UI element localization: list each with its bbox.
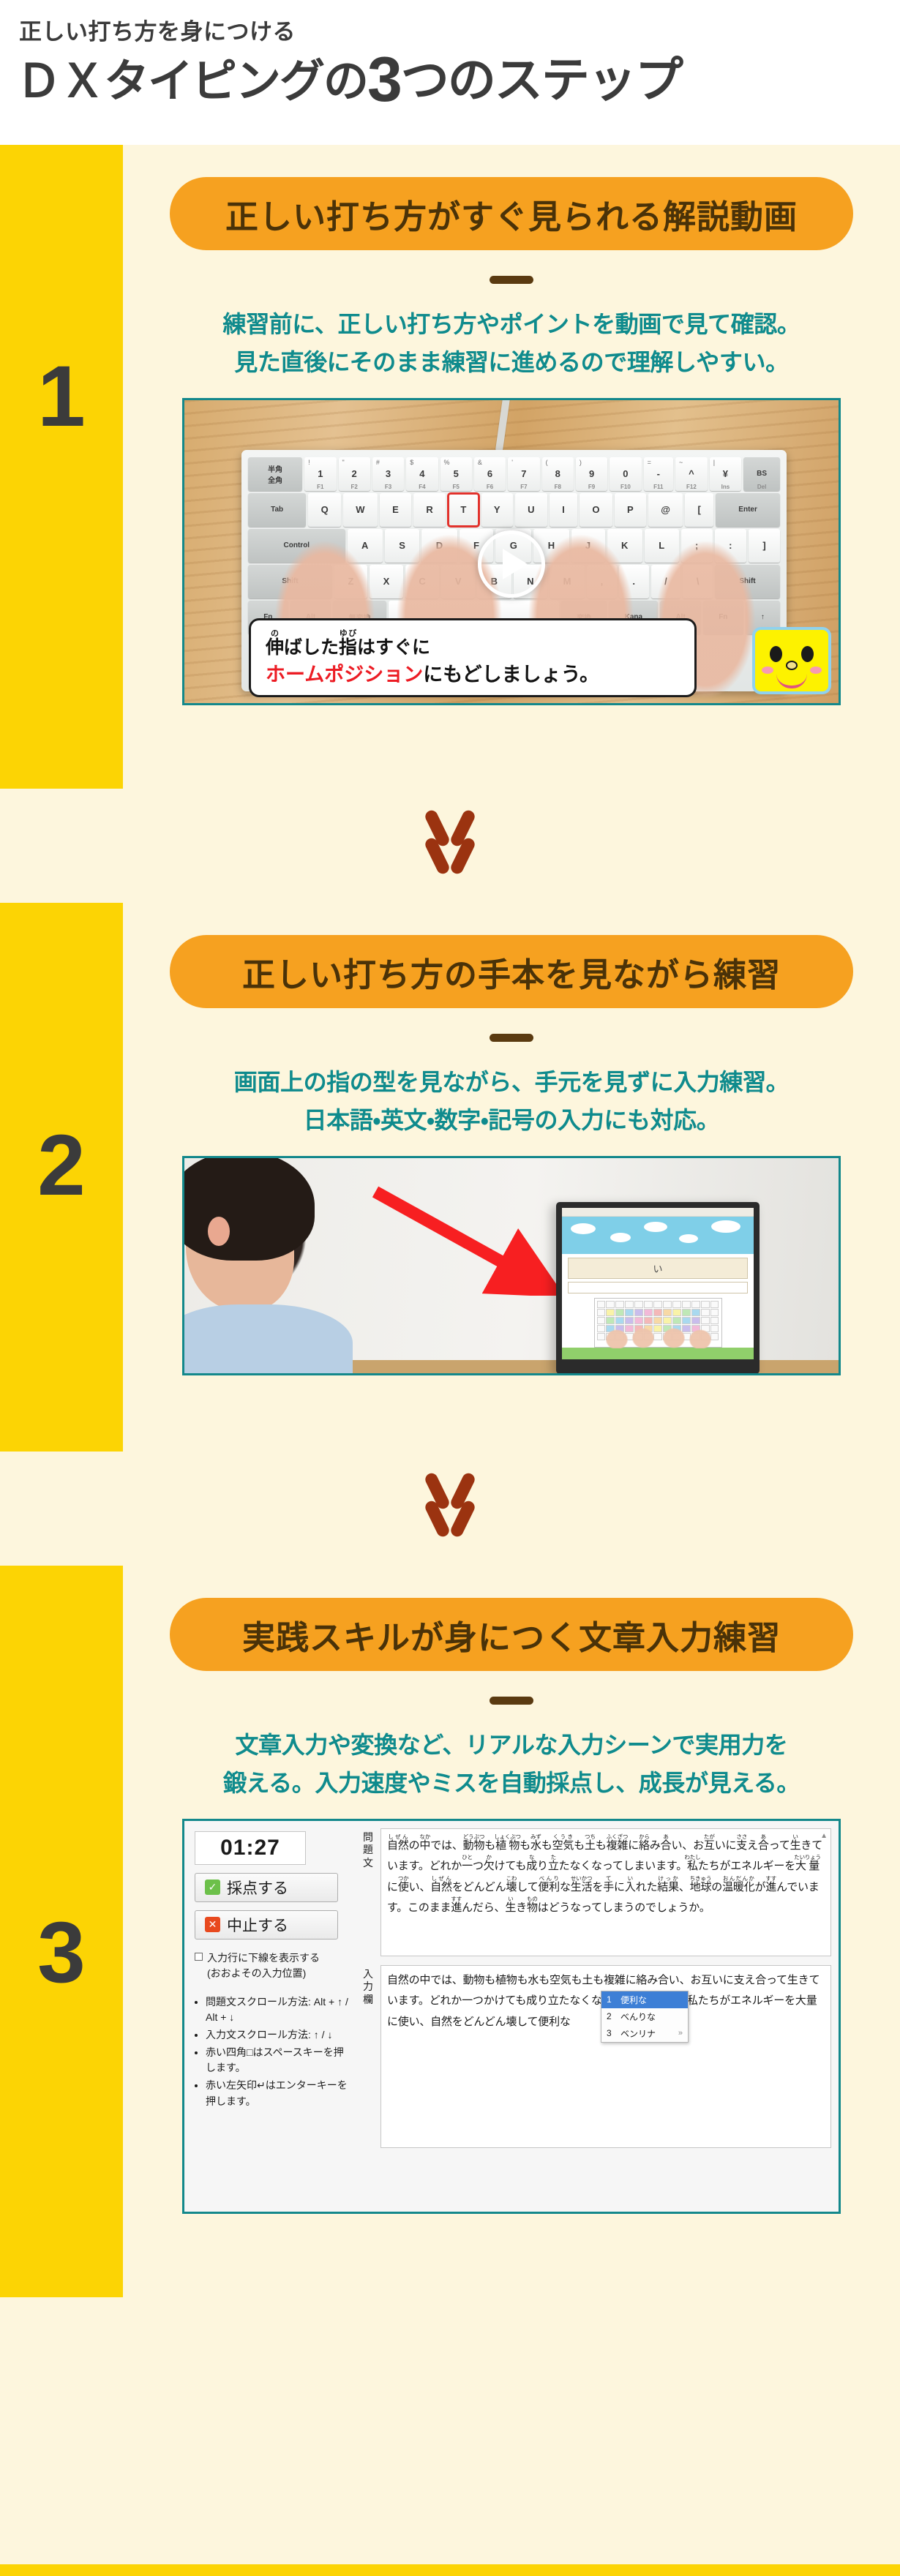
app-left-panel: 01:27 ✓ 採点する ✕ 中止する 入力行に下線を表示する (おおよその入力… — [184, 1821, 357, 2212]
checkbox-box-icon — [195, 1953, 203, 1961]
guide-key — [682, 1301, 691, 1308]
step-1-body: 正しい打ち方がすぐ見られる解説動画 練習前に、正しい打ち方やポイントを動画で見て… — [123, 145, 900, 705]
mascot-character-icon — [752, 627, 831, 694]
score-button[interactable]: ✓ 採点する — [195, 1873, 338, 1902]
key-label: . — [632, 576, 635, 587]
key-fn-label: F11 — [653, 484, 663, 490]
key-fn-label: F3 — [385, 484, 391, 490]
ime-candidate-1-num: 1 — [607, 1994, 614, 2005]
key-label: 5 — [454, 468, 459, 479]
key-W: W — [343, 493, 378, 527]
key-fn-label: Ins — [721, 484, 730, 490]
key-\: \ — [683, 565, 713, 598]
key-fn-label: F12 — [686, 484, 697, 490]
key--: =-F11 — [644, 457, 673, 491]
close-icon: ✕ — [205, 1917, 220, 1932]
key-label: 7 — [521, 468, 526, 479]
guide-key — [615, 1309, 624, 1316]
key-BS: BSDel — [743, 457, 780, 491]
ime-candidate-3-text: ベンリナ — [620, 2027, 656, 2040]
title-number: 3 — [367, 45, 401, 115]
key-E: E — [380, 493, 411, 527]
key-fn-label: Del — [757, 484, 766, 490]
key-label: F — [473, 540, 479, 551]
key-sublabel: = — [648, 459, 651, 466]
key-I: I — [550, 493, 577, 527]
guide-key — [701, 1309, 710, 1316]
key-label: @ — [661, 504, 670, 515]
scroll-up-icon[interactable]: ▲ — [820, 1832, 828, 1840]
key-label: , — [601, 576, 604, 587]
key-label: D — [436, 540, 443, 551]
play-icon[interactable] — [478, 530, 545, 598]
step-1-description: 練習前に、正しい打ち方やポイントを動画で見て確認。 見た直後にそのまま練習に進め… — [163, 306, 860, 382]
cloud-icon-5 — [711, 1220, 740, 1233]
chevron-down-icon-1b — [415, 837, 485, 866]
guide-key — [625, 1301, 634, 1308]
key-8: (8F8 — [542, 457, 574, 491]
checkbox-label-line-1: 入力行に下線を表示する — [207, 1952, 320, 1964]
guide-key — [597, 1301, 606, 1308]
keyboard-row-2: TabQWERTYUIOP@[Enter — [248, 493, 780, 527]
key-sublabel: " — [342, 459, 345, 466]
key-sublabel: # — [376, 459, 380, 466]
key-label: Y — [494, 504, 500, 515]
key-label: X — [383, 576, 390, 587]
key-label: Tab — [271, 506, 283, 514]
key-fn-label: F5 — [453, 484, 460, 490]
key-label: BS — [757, 470, 767, 478]
key-fn-label: F6 — [487, 484, 493, 490]
key-fn-label: F1 — [317, 484, 323, 490]
key-label: I — [562, 504, 565, 515]
app-prompt-text: い — [568, 1258, 748, 1279]
chevron-down-icon-1a — [415, 809, 485, 838]
key-sublabel: % — [444, 459, 450, 466]
step-3-divider — [490, 1697, 533, 1705]
monitor-stand — [619, 1373, 700, 1375]
list-item: 問題文スクロール方法: Alt + ↑ / Alt + ↓ — [206, 1994, 348, 2026]
keyboard-row-1: 半角 全角!1F1"2F2#3F3$4F4%5F5&6F6'7F7(8F8)9F… — [248, 457, 780, 491]
key-label: 半角 全角 — [268, 463, 282, 485]
red-arrow-icon — [371, 1186, 561, 1296]
key-S: S — [385, 529, 420, 563]
key-label: 4 — [419, 468, 424, 479]
key-sublabel: ~ — [679, 459, 683, 466]
ime-candidate-2-num: 2 — [607, 2011, 614, 2021]
input-panel-row: 入力欄 自然の中では、動物も植物も水も空気も土も複雑に絡み合い、お互いに支え合っ… — [360, 1965, 831, 2148]
ime-candidate-list[interactable]: 1 便利な 2 べんりな 3 ベンリナ » — [601, 1991, 689, 2043]
guide-key — [691, 1301, 700, 1308]
page-header: 正しい打ち方を身につける ＤＸタイピングの3つのステップ — [0, 0, 900, 145]
key-U: U — [515, 493, 547, 527]
step-1-divider — [490, 276, 533, 284]
step-2-description: 画面上の指の型を見ながら、手元を見ずに入力練習。 日本語・英文・数字・記号の入力… — [163, 1064, 860, 1140]
chevron-down-icon-2a — [415, 1472, 485, 1501]
step-1-video-thumbnail[interactable]: 半角 全角!1F1"2F2#3F3$4F4%5F5&6F6'7F7(8F8)9F… — [182, 398, 841, 705]
step-2-desc-line-1: 画面上の指の型を見ながら、手元を見ずに入力練習。 — [163, 1064, 860, 1102]
step-2-photo: い — [182, 1156, 841, 1375]
guide-hands-overlay — [601, 1323, 718, 1348]
step-1-number: 1 — [0, 353, 123, 440]
check-icon: ✓ — [205, 1880, 220, 1895]
arrow-separator-1 — [0, 789, 900, 903]
key-label: C — [419, 576, 425, 587]
guide-key — [701, 1301, 710, 1308]
key-label: K — [621, 540, 628, 551]
key-fn-label: F2 — [351, 484, 358, 490]
key-label: Shift — [739, 577, 755, 585]
step-section-1: 1 正しい打ち方がすぐ見られる解説動画 練習前に、正しい打ち方やポイントを動画で… — [0, 145, 900, 789]
key-:: : — [715, 529, 746, 563]
key-label: ; — [695, 540, 698, 551]
key-label: 8 — [555, 468, 560, 479]
ime-candidate-2[interactable]: 2 べんりな — [601, 2008, 688, 2025]
underline-checkbox-label: 入力行に下線を表示する (おおよその入力位置) — [207, 1950, 320, 1981]
question-text-box: 自然しぜんの中なかでは、動物どうぶつも植物しょくぶつも水みずも空気くうきも土つち… — [380, 1828, 831, 1956]
key-fn-label: F9 — [588, 484, 595, 490]
list-item: 赤い四角□はスペースキーを押します。 — [206, 2045, 348, 2076]
guide-key — [644, 1301, 653, 1308]
ime-candidate-2-text: べんりな — [620, 2010, 656, 2023]
key-T: T — [448, 493, 479, 527]
person-ear — [208, 1217, 230, 1246]
key-label: Enter — [738, 506, 757, 514]
key-Shift: Shift — [715, 565, 780, 598]
list-item: 入力文スクロール方法: ↑ / ↓ — [206, 2027, 348, 2043]
key-label: A — [361, 540, 368, 551]
key-9: )9F9 — [576, 457, 607, 491]
key-label: 1 — [318, 468, 323, 479]
key-Z: Z — [334, 565, 367, 598]
key-Enter: Enter — [716, 493, 780, 527]
key-label: J — [585, 540, 590, 551]
guide-key — [653, 1301, 662, 1308]
key-V: V — [441, 565, 475, 598]
guide-key — [663, 1301, 672, 1308]
step-section-2: 2 正しい打ち方の手本を見ながら練習 画面上の指の型を見ながら、手元を見ずに入力… — [0, 903, 900, 1452]
key-label: / — [664, 576, 667, 587]
key-label: 9 — [589, 468, 594, 479]
key-C: C — [405, 565, 440, 598]
guide-key — [634, 1309, 643, 1316]
step-3-body: 実践スキルが身につく文章入力練習 文章入力や変換など、リアルな入力シーンで実用力… — [123, 1566, 900, 2214]
title-part1: ＤＸタイピングの — [16, 56, 367, 107]
guide-key — [644, 1309, 653, 1316]
step-3-pill-label: 実践スキルが身につく文章入力練習 — [242, 1611, 781, 1659]
key-/: / — [651, 565, 681, 598]
on-screen-keyboard-guide — [594, 1298, 722, 1348]
underline-checkbox[interactable]: 入力行に下線を表示する (おおよその入力位置) — [195, 1950, 348, 1981]
key-¥: |¥Ins — [710, 457, 741, 491]
guide-key — [682, 1309, 691, 1316]
key-sublabel: ( — [546, 459, 548, 466]
guide-keyboard-row-2 — [597, 1309, 719, 1316]
key-label: P — [627, 504, 634, 515]
key-;: ; — [681, 529, 713, 563]
key-J: J — [571, 529, 605, 563]
person-hair — [182, 1156, 315, 1261]
cloud-icon-3 — [644, 1222, 667, 1232]
key-7: '7F7 — [508, 457, 539, 491]
monitor-screen: い — [562, 1208, 754, 1359]
key-M: M — [550, 565, 585, 598]
cloud-icon-4 — [679, 1234, 698, 1243]
key-label: H — [548, 540, 555, 551]
ime-candidate-1-text: 便利な — [620, 1994, 647, 2006]
key-label: W — [356, 504, 364, 515]
chevron-down-icon-2b — [415, 1500, 485, 1529]
key-P: P — [615, 493, 646, 527]
mascot-cheek-right — [810, 666, 822, 674]
app-right-panel: 問題文 自然しぜんの中なかでは、動物どうぶつも植物しょくぶつも水みずも空気くうき… — [357, 1821, 839, 2212]
key-label: Shift — [282, 577, 298, 585]
key-@: @ — [648, 493, 683, 527]
step-2-body: 正しい打ち方の手本を見ながら練習 画面上の指の型を見ながら、手元を見ずに入力練習… — [123, 903, 900, 1375]
key-0: 0F10 — [610, 457, 641, 491]
guide-key — [606, 1309, 615, 1316]
cancel-button[interactable]: ✕ 中止する — [195, 1910, 338, 1939]
key-L: L — [645, 529, 679, 563]
guide-key — [634, 1301, 643, 1308]
key-label: : — [729, 540, 732, 551]
input-text-box[interactable]: 自然の中では、動物も植物も水も空気も土も複雑に絡み合い、お互いに支え合って生きて… — [380, 1965, 831, 2148]
guide-key — [653, 1309, 662, 1316]
key-Fn: Fn — [703, 601, 743, 634]
app-help-notes: 問題文スクロール方法: Alt + ↑ / Alt + ↓ 入力文スクロール方法… — [195, 1994, 348, 2110]
key-label: ↑ — [761, 613, 765, 621]
key-fn-label: F8 — [555, 484, 561, 490]
monitor-display: い — [556, 1202, 760, 1374]
key-label: R — [426, 504, 432, 515]
key-sublabel: ) — [580, 459, 582, 466]
guide-key — [615, 1301, 624, 1308]
score-button-label: 採点する — [227, 1877, 288, 1899]
caption-line-1: 伸のばした指ゆびはすぐに — [266, 629, 680, 657]
key-label: ¥ — [723, 468, 728, 479]
guide-keyboard-row-1 — [597, 1301, 719, 1308]
guide-key — [710, 1309, 719, 1316]
key-label: 2 — [352, 468, 357, 479]
step-3-desc-line-1: 文章入力や変換など、リアルな入力シーンで実用力を — [163, 1727, 860, 1765]
key-Control: Control — [248, 529, 345, 563]
step-2-pill-label: 正しい打ち方の手本を見ながら練習 — [242, 948, 781, 996]
step-2-number: 2 — [0, 1122, 123, 1209]
mascot-mouth — [776, 674, 807, 688]
key-2: "2F2 — [339, 457, 370, 491]
question-panel-row: 問題文 自然しぜんの中なかでは、動物どうぶつも植物しょくぶつも水みずも空気くうき… — [360, 1828, 831, 1956]
key-fn-label: F7 — [520, 484, 527, 490]
key-]: ] — [749, 529, 780, 563]
key-半角-全角: 半角 全角 — [248, 457, 302, 491]
step-1-desc-line-2: 見た直後にそのまま練習に進めるので理解しやすい。 — [163, 344, 860, 382]
key-3: #3F3 — [372, 457, 404, 491]
guide-key — [625, 1309, 634, 1316]
mascot-eye-right — [801, 646, 814, 662]
arrow-separator-2 — [0, 1452, 900, 1566]
cloud-icon-1 — [571, 1223, 596, 1234]
key-label: V — [455, 576, 462, 587]
key-label: [ — [698, 504, 701, 515]
step-2-pill: 正しい打ち方の手本を見ながら練習 — [170, 935, 853, 1008]
key-label: S — [399, 540, 405, 551]
step-1-pill-label: 正しい打ち方がすぐ見られる解説動画 — [225, 190, 798, 238]
play-triangle-icon — [503, 549, 528, 579]
key-^: ~^F12 — [675, 457, 708, 491]
key-label: 6 — [487, 468, 492, 479]
step-3-desc-line-2: 鍛える。入力速度やミスを自動採点し、成長が見える。 — [163, 1765, 860, 1803]
key-label: \ — [697, 576, 700, 587]
app-sky-background — [562, 1217, 754, 1254]
key-label: ^ — [689, 468, 694, 479]
ime-more-icon[interactable]: » — [678, 2029, 683, 2038]
key-label: T — [460, 504, 466, 515]
key-label: Z — [348, 576, 354, 587]
key-Tab: Tab — [248, 493, 306, 527]
cloud-icon-2 — [610, 1233, 631, 1242]
key-5: %5F5 — [440, 457, 472, 491]
key-[: [ — [685, 493, 713, 527]
key-sublabel: $ — [410, 459, 413, 466]
key-1: !1F1 — [304, 457, 336, 491]
step-3-pill: 実践スキルが身につく文章入力練習 — [170, 1598, 853, 1671]
key-label: - — [657, 468, 660, 479]
mascot-cheek-left — [762, 666, 773, 674]
cancel-button-label: 中止する — [227, 1914, 288, 1936]
video-caption-bubble: 伸のばした指ゆびはすぐに ホームポジションにもどしましょう。 — [249, 618, 697, 697]
list-item: 赤い左矢印↵はエンターキーを押します。 — [206, 2078, 348, 2109]
step-1-yellow-bar — [0, 145, 123, 789]
guide-key — [606, 1301, 615, 1308]
guide-key — [691, 1309, 700, 1316]
infographic-page: 正しい打ち方を身につける ＤＸタイピングの3つのステップ 1 正しい打ち方がすぐ… — [0, 0, 900, 2576]
key-X: X — [370, 565, 403, 598]
mascot-eye-left — [770, 646, 782, 662]
key-label: 0 — [623, 468, 628, 479]
key-label: Fn — [719, 613, 727, 621]
key-sublabel: ! — [308, 459, 310, 466]
key-sublabel: & — [478, 459, 482, 466]
question-text: 自然しぜんの中なかでは、動物どうぶつも植物しょくぶつも水みずも空気くうきも土つち… — [387, 1833, 825, 1919]
key-fn-label: F10 — [620, 484, 631, 490]
key-6: &6F6 — [474, 457, 506, 491]
person-shirt — [182, 1304, 353, 1375]
key-label: U — [528, 504, 534, 515]
timer-display: 01:27 — [195, 1831, 306, 1865]
guide-key — [710, 1301, 719, 1308]
key-sublabel: | — [713, 459, 715, 466]
key-R: R — [413, 493, 446, 527]
key-Y: Y — [481, 493, 513, 527]
caption-highlight: ホームポジション — [266, 664, 423, 686]
key-,: , — [587, 565, 617, 598]
ime-candidate-3-num: 3 — [607, 2028, 614, 2038]
ime-candidate-1[interactable]: 1 便利な — [601, 1991, 688, 2008]
key-.: . — [619, 565, 649, 598]
key-label: O — [592, 504, 599, 515]
key-label: M — [563, 576, 571, 587]
step-3-number: 3 — [0, 1910, 123, 1996]
step-2-desc-line-2: 日本語・英文・数字・記号の入力にも対応。 — [163, 1102, 860, 1140]
key-K: K — [607, 529, 642, 563]
step-2-divider — [490, 1034, 533, 1042]
key-label: 3 — [386, 468, 391, 479]
guide-key — [663, 1309, 672, 1316]
app-input-line — [568, 1282, 748, 1293]
key-label: E — [392, 504, 399, 515]
key-label: Q — [321, 504, 329, 515]
browser-toolbar — [562, 1208, 754, 1217]
title-part2: つのステップ — [401, 53, 682, 107]
key-sublabel: ' — [511, 459, 513, 466]
key-fn-label: F4 — [419, 484, 425, 490]
checkbox-label-line-2: (おおよその入力位置) — [207, 1967, 306, 1979]
key-label: Control — [284, 541, 310, 549]
key-D: D — [421, 529, 457, 563]
step-1-desc-line-1: 練習前に、正しい打ち方やポイントを動画で見て確認。 — [163, 306, 860, 344]
caption-line-2: ホームポジションにもどしましょう。 — [266, 665, 680, 685]
step-3-app-screenshot: 01:27 ✓ 採点する ✕ 中止する 入力行に下線を表示する (おおよその入力… — [182, 1819, 841, 2214]
guide-key — [672, 1309, 681, 1316]
key-O: O — [580, 493, 612, 527]
mascot-nose — [786, 661, 798, 670]
input-panel-label: 入力欄 — [360, 1965, 376, 2148]
step-3-description: 文章入力や変換など、リアルな入力シーンで実用力を 鍛える。入力速度やミスを自動採… — [163, 1727, 860, 1803]
bottom-yellow-bar — [0, 2564, 900, 2576]
step-section-3: 3 実践スキルが身につく文章入力練習 文章入力や変換など、リアルな入力シーンで実… — [0, 1566, 900, 2297]
guide-key — [672, 1301, 681, 1308]
caption-rest: にもどしましょう。 — [423, 664, 599, 686]
step-1-pill: 正しい打ち方がすぐ見られる解説動画 — [170, 177, 853, 250]
ime-candidate-3[interactable]: 3 ベンリナ » — [601, 2025, 688, 2042]
key-label: L — [659, 540, 664, 551]
app-ground-strip — [562, 1348, 754, 1359]
key-4: $4F4 — [406, 457, 438, 491]
key-label: ] — [762, 540, 765, 551]
guide-key — [597, 1309, 606, 1316]
question-panel-label: 問題文 — [360, 1828, 376, 1956]
key-Q: Q — [308, 493, 341, 527]
page-title: ＤＸタイピングの3つのステップ — [16, 41, 682, 116]
key-Shift: Shift — [248, 565, 332, 598]
key-A: A — [348, 529, 383, 563]
